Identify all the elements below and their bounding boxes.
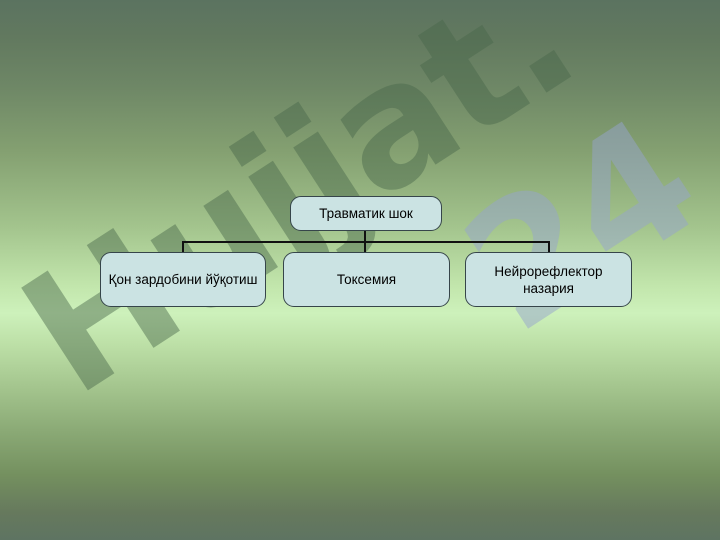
diagram-node-child-1-label: Қон зардобини йўқотиш [109, 271, 258, 288]
diagram-node-child-3[interactable]: Нейрорефлектор назария [465, 252, 632, 307]
diagram-node-child-1[interactable]: Қон зардобини йўқотиш [100, 252, 266, 307]
diagram-node-child-3-label: Нейрорефлектор назария [472, 263, 625, 297]
watermark-tail-text: 24 [432, 82, 720, 369]
diagram-node-root-label: Травматик шок [319, 205, 413, 222]
diagram-node-child-2-label: Токсемия [337, 271, 396, 288]
slide-canvas: Hujjat. 24 Травматик шок Қон зардобини й… [0, 0, 720, 540]
diagram-node-root[interactable]: Травматик шок [290, 196, 442, 231]
connector-horizontal-bus [182, 241, 550, 243]
diagram-node-child-2[interactable]: Токсемия [283, 252, 450, 307]
